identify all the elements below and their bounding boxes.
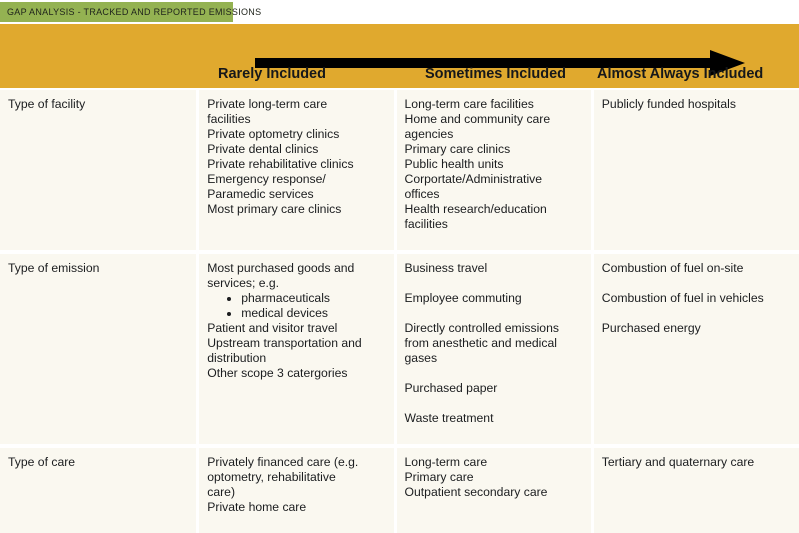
cell-line: Long-term care facilities [405, 97, 581, 112]
cell-line: Most purchased goods and [207, 261, 383, 276]
cell-line: Primary care [405, 470, 581, 485]
list-item: medical devices [241, 306, 383, 321]
cell-line: Public health units [405, 157, 581, 172]
cell-rarely-included: Privately financed care (e.g. optometry,… [199, 448, 393, 533]
cell-line: Private dental clinics [207, 142, 383, 157]
column-header-almost-always-included: Almost Always Included [597, 66, 763, 82]
page-title: GAP ANALYSIS - TRACKED AND REPORTED EMIS… [7, 7, 261, 17]
cell-almost-always-included: Combustion of fuel on-site Combustion of… [594, 254, 799, 444]
row-label: Type of care [8, 455, 186, 470]
cell-line: care) [207, 485, 383, 500]
cell-line: agencies [405, 127, 581, 142]
header-band: Rarely Included Sometimes Included Almos… [0, 24, 799, 88]
cell-line: Private rehabilitative clinics [207, 157, 383, 172]
row-label: Type of emission [8, 261, 186, 276]
cell-line: Publicly funded hospitals [602, 97, 789, 112]
cell-sometimes-included: Business travel Employee commuting Direc… [397, 254, 591, 444]
cell-rarely-included: Private long-term care facilities Privat… [199, 90, 393, 250]
cell-line: Emergency response/ [207, 172, 383, 187]
cell-line: from anesthetic and medical [405, 336, 581, 351]
cell-line: facilities [207, 112, 383, 127]
cell-line: Purchased paper [405, 381, 581, 396]
table-row: Type of care Privately financed care (e.… [0, 448, 799, 533]
row-label-cell: Type of care [0, 448, 196, 533]
cell-line: Employee commuting [405, 291, 581, 306]
banner-title-bar: GAP ANALYSIS - TRACKED AND REPORTED EMIS… [0, 2, 233, 22]
cell-line: Waste treatment [405, 411, 581, 426]
list-item: pharmaceuticals [241, 291, 383, 306]
row-label-cell: Type of emission [0, 254, 196, 444]
cell-sometimes-included: Long-term care Primary care Outpatient s… [397, 448, 591, 533]
cell-line: Long-term care [405, 455, 581, 470]
cell-line: Corportate/Administrative [405, 172, 581, 187]
cell-rarely-included: Most purchased goods and services; e.g. … [199, 254, 393, 444]
column-header-sometimes-included: Sometimes Included [425, 66, 566, 82]
cell-line: gases [405, 351, 581, 366]
cell-line: Private optometry clinics [207, 127, 383, 142]
cell-line: Private home care [207, 500, 383, 515]
gap-analysis-table: GAP ANALYSIS - TRACKED AND REPORTED EMIS… [0, 0, 799, 533]
cell-almost-always-included: Publicly funded hospitals [594, 90, 799, 250]
cell-line: Paramedic services [207, 187, 383, 202]
cell-line: Upstream transportation and [207, 336, 383, 351]
column-header-rarely-included: Rarely Included [218, 66, 326, 82]
cell-line: Health research/education [405, 202, 581, 217]
cell-line: Privately financed care (e.g. [207, 455, 383, 470]
cell-line: Home and community care [405, 112, 581, 127]
cell-line: optometry, rehabilitative [207, 470, 383, 485]
cell-line: Business travel [405, 261, 581, 276]
cell-line: Most primary care clinics [207, 202, 383, 217]
cell-line: Primary care clinics [405, 142, 581, 157]
cell-line: Combustion of fuel on-site [602, 261, 789, 276]
cell-line: distribution [207, 351, 383, 366]
table-row: Type of emission Most purchased goods an… [0, 254, 799, 444]
cell-line: Patient and visitor travel [207, 321, 383, 336]
cell-line: Outpatient secondary care [405, 485, 581, 500]
cell-line: Private long-term care [207, 97, 383, 112]
cell-line: facilities [405, 217, 581, 232]
row-label: Type of facility [8, 97, 186, 112]
cell-line: Other scope 3 catergories [207, 366, 383, 381]
table-row: Type of facility Private long-term care … [0, 90, 799, 250]
bullet-list: pharmaceuticals medical devices [207, 291, 383, 321]
cell-line: offices [405, 187, 581, 202]
cell-line: services; e.g. [207, 276, 383, 291]
cell-line: Purchased energy [602, 321, 789, 336]
cell-almost-always-included: Tertiary and quaternary care [594, 448, 799, 533]
row-label-cell: Type of facility [0, 90, 196, 250]
cell-line: Tertiary and quaternary care [602, 455, 789, 470]
cell-sometimes-included: Long-term care facilities Home and commu… [397, 90, 591, 250]
cell-line: Combustion of fuel in vehicles [602, 291, 789, 306]
cell-line: Directly controlled emissions [405, 321, 581, 336]
